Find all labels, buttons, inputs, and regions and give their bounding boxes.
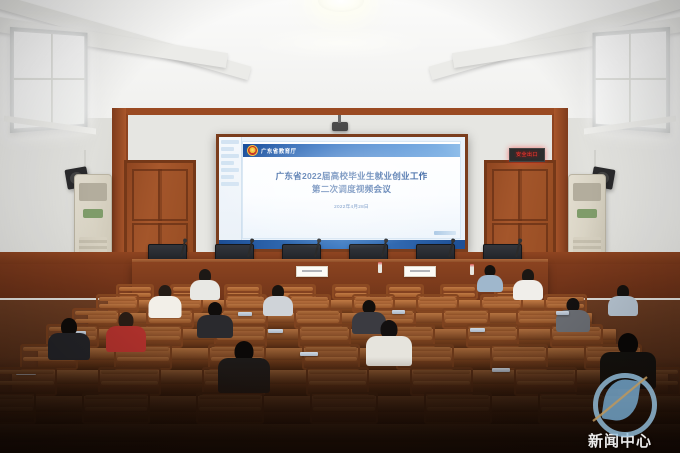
ceiling-light-fixture: [318, 0, 364, 12]
chair-slat: [335, 287, 367, 291]
attendee: [263, 285, 293, 316]
slide-footer-logo: [434, 231, 456, 235]
sidebar-row: [221, 168, 239, 172]
projector-mount: [338, 115, 341, 123]
name-card: [296, 266, 328, 277]
ceiling-light-glow: [250, 26, 430, 60]
chair-slat: [427, 407, 489, 411]
ceiling-projector: [332, 122, 348, 131]
chair-slat: [309, 381, 366, 385]
chair-slat: [301, 327, 348, 331]
ac-vent: [573, 183, 601, 201]
ac-display: [577, 209, 597, 218]
chair-slat: [85, 395, 147, 399]
chair: [82, 392, 150, 424]
chair-slat: [413, 381, 470, 385]
news-center-logo-icon: [587, 371, 653, 433]
tablet-device: [470, 328, 485, 332]
door-panel: [158, 169, 188, 221]
chair-slat: [519, 311, 561, 315]
chair-slat: [493, 357, 545, 361]
chair-slat: [85, 407, 147, 411]
chair-slat: [0, 370, 54, 374]
window-mullion: [14, 78, 84, 80]
attendee-torso: [48, 333, 90, 361]
chair-slat: [0, 381, 54, 385]
tablet-device: [268, 329, 283, 333]
chair-slat: [493, 347, 545, 351]
chair-slat: [313, 407, 375, 411]
attendee-torso: [263, 296, 293, 316]
tablet-device: [392, 310, 405, 314]
presentation-slide: 广东省教育厅 广东省2022届高校毕业生就业创业工作 第二次调度视频会议 202…: [242, 141, 461, 239]
chair-slat: [427, 395, 489, 399]
attendee-torso: [608, 296, 638, 316]
chair: [0, 392, 36, 424]
slide-title: 广东省2022届高校毕业生就业创业工作 第二次调度视频会议: [249, 170, 454, 196]
sidebar-row: [221, 175, 234, 179]
attendee-torso: [477, 275, 503, 292]
chair-slat: [0, 395, 33, 399]
sidebar-row: [221, 154, 239, 158]
name-card-text: [410, 270, 430, 272]
chair-slat: [199, 407, 261, 411]
chair: [310, 392, 378, 424]
chair-slat: [301, 336, 348, 340]
attendee: [106, 312, 146, 352]
attendee: [48, 318, 90, 360]
attendee: [218, 341, 270, 392]
window-glass: [596, 31, 666, 128]
chair-slat: [445, 311, 487, 315]
slide-date: 2022年4月28日: [243, 204, 460, 210]
chair-slat: [99, 297, 136, 301]
chair-slat: [199, 395, 261, 399]
presentation-sidebar: [219, 137, 242, 249]
attendee-torso: [218, 358, 270, 392]
chair-slat: [313, 395, 375, 399]
chair-slat: [389, 287, 421, 291]
attendee: [513, 269, 543, 300]
chair-slat: [297, 311, 339, 315]
exit-sign-label: 安全出口: [516, 153, 538, 158]
ceiling: [0, 0, 680, 118]
projection-screen-frame: 广东省教育厅 广东省2022届高校毕业生就业创业工作 第二次调度视频会议 202…: [216, 134, 468, 252]
tablet-device: [300, 352, 318, 356]
water-bottle: [470, 264, 474, 275]
sidebar-row: [221, 140, 239, 144]
news-center-watermark: 新闻中心: [566, 363, 674, 449]
chair-slat: [519, 319, 561, 323]
chair: [196, 392, 264, 424]
chair-slat: [419, 297, 456, 301]
attendee-torso: [197, 315, 233, 339]
chair-slat: [469, 336, 516, 340]
tablet-device: [556, 311, 569, 315]
chair-slat: [0, 407, 33, 411]
attendee-torso: [106, 326, 146, 352]
name-card: [404, 266, 436, 277]
chair-slat: [445, 319, 487, 323]
chair-slat: [227, 287, 259, 291]
attendee: [190, 269, 220, 300]
window-glass: [14, 31, 84, 128]
chair-slat: [305, 357, 357, 361]
attendee: [477, 265, 503, 292]
slide-title-line1: 广东省2022届高校毕业生就业创业工作: [249, 170, 454, 183]
attendee-torso: [513, 280, 543, 300]
window-mullion: [596, 78, 666, 80]
tablet-device: [238, 312, 252, 316]
chair-slat: [309, 370, 366, 374]
chair-slat: [413, 370, 470, 374]
national-emblem-icon: [247, 145, 258, 156]
tablet-device: [492, 368, 510, 372]
sidebar-row: [221, 147, 234, 151]
attendee-torso: [190, 280, 220, 300]
chair-slat: [297, 319, 339, 323]
ac-vent: [79, 183, 107, 201]
chair-slat: [305, 347, 357, 351]
water-bottle: [378, 262, 382, 273]
slide-banner-org: 广东省教育厅: [261, 147, 296, 155]
attendee: [148, 285, 181, 318]
logo-slash: [589, 375, 651, 427]
sidebar-row: [221, 182, 239, 186]
conference-hall-photo: 安全出口 广东省教育厅: [0, 0, 680, 453]
emergency-exit-sign: 安全出口: [509, 148, 545, 162]
door-panel: [518, 169, 548, 221]
name-card-text: [302, 270, 322, 272]
chair-slat: [117, 357, 169, 361]
slide-title-line2: 第二次调度视频会议: [249, 183, 454, 196]
projection-screen: 广东省教育厅 广东省2022届高校毕业生就业创业工作 第二次调度视频会议 202…: [219, 137, 465, 249]
chair-slat: [553, 336, 600, 340]
chair-slat: [149, 319, 191, 323]
slide-banner: 广东省教育厅: [243, 144, 460, 157]
sidebar-row: [221, 161, 234, 165]
attendee-torso: [148, 296, 181, 318]
chair-slat: [291, 297, 328, 301]
attendee: [608, 285, 638, 316]
attendee-torso: [366, 336, 412, 366]
attendee: [197, 302, 233, 338]
ac-display: [83, 209, 103, 218]
chair-slat: [101, 381, 158, 385]
chair-slat: [443, 287, 475, 291]
chair-slat: [119, 287, 151, 291]
chair-slat: [101, 370, 158, 374]
attendee: [366, 320, 412, 366]
chair: [424, 392, 492, 424]
